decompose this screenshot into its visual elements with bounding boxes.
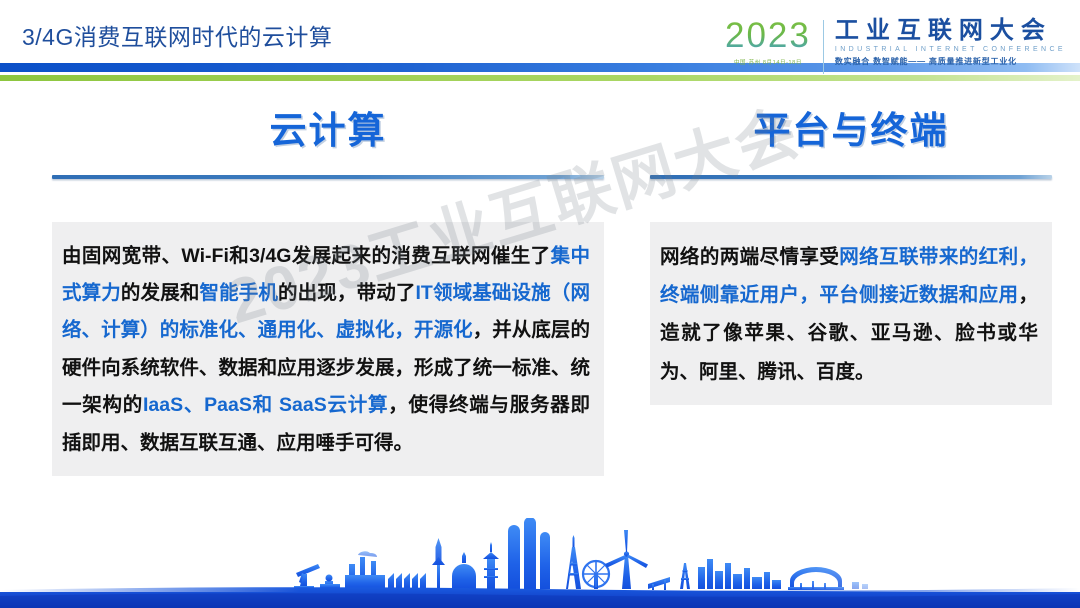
skyline-decoration: [0, 518, 1080, 608]
column-heading-rule: [650, 175, 1052, 179]
column-body-text: 网络的两端尽情享受网络互联带来的红利，终端侧靠近用户，平台侧接近数据和应用，造就…: [660, 238, 1038, 392]
column-heading-rule: [52, 175, 604, 179]
column-platform-terminal: 平台与终端 网络的两端尽情享受网络互联带来的红利，终端侧靠近用户，平台侧接近数据…: [612, 110, 1080, 405]
logo-date-line: 中国·苏州 8月14日-18日: [734, 58, 802, 66]
logo-name-block: 工业互联网大会 INDUSTRIAL INTERNET CONFERENCE 数…: [835, 18, 1066, 67]
skyline-icon: [0, 518, 1080, 608]
column-text-box: 由固网宽带、Wi-Fi和3/4G发展起来的消费互联网催生了集中式算力的发展和智能…: [52, 222, 604, 477]
page-title: 3/4G消费互联网时代的云计算: [22, 18, 332, 52]
logo-tagline: 数实融合 数智赋能—— 高质量推进新型工业化: [835, 56, 1066, 67]
column-heading: 平台与终端: [650, 110, 1052, 153]
logo-name-en: INDUSTRIAL INTERNET CONFERENCE: [835, 46, 1066, 53]
logo-year-block: 2023 中国·苏州 8月14日-18日: [725, 18, 823, 66]
column-body-text: 由固网宽带、Wi-Fi和3/4G发展起来的消费互联网催生了集中式算力的发展和智能…: [62, 238, 590, 463]
slide: 3/4G消费互联网时代的云计算 2023 中国·苏州 8月14日-18日 工业互…: [0, 0, 1080, 608]
column-heading: 云计算: [52, 110, 604, 153]
column-cloud-computing: 云计算 由固网宽带、Wi-Fi和3/4G发展起来的消费互联网催生了集中式算力的发…: [0, 110, 612, 476]
column-text-box: 网络的两端尽情享受网络互联带来的红利，终端侧靠近用户，平台侧接近数据和应用，造就…: [650, 222, 1052, 406]
logo-year: 2023: [725, 18, 811, 55]
logo-divider: [823, 20, 824, 74]
conference-logo: 2023 中国·苏州 8月14日-18日 工业互联网大会 INDUSTRIAL …: [725, 18, 1066, 80]
content-columns: 云计算 由固网宽带、Wi-Fi和3/4G发展起来的消费互联网催生了集中式算力的发…: [0, 110, 1080, 476]
logo-name-cn: 工业互联网大会: [835, 18, 1066, 44]
